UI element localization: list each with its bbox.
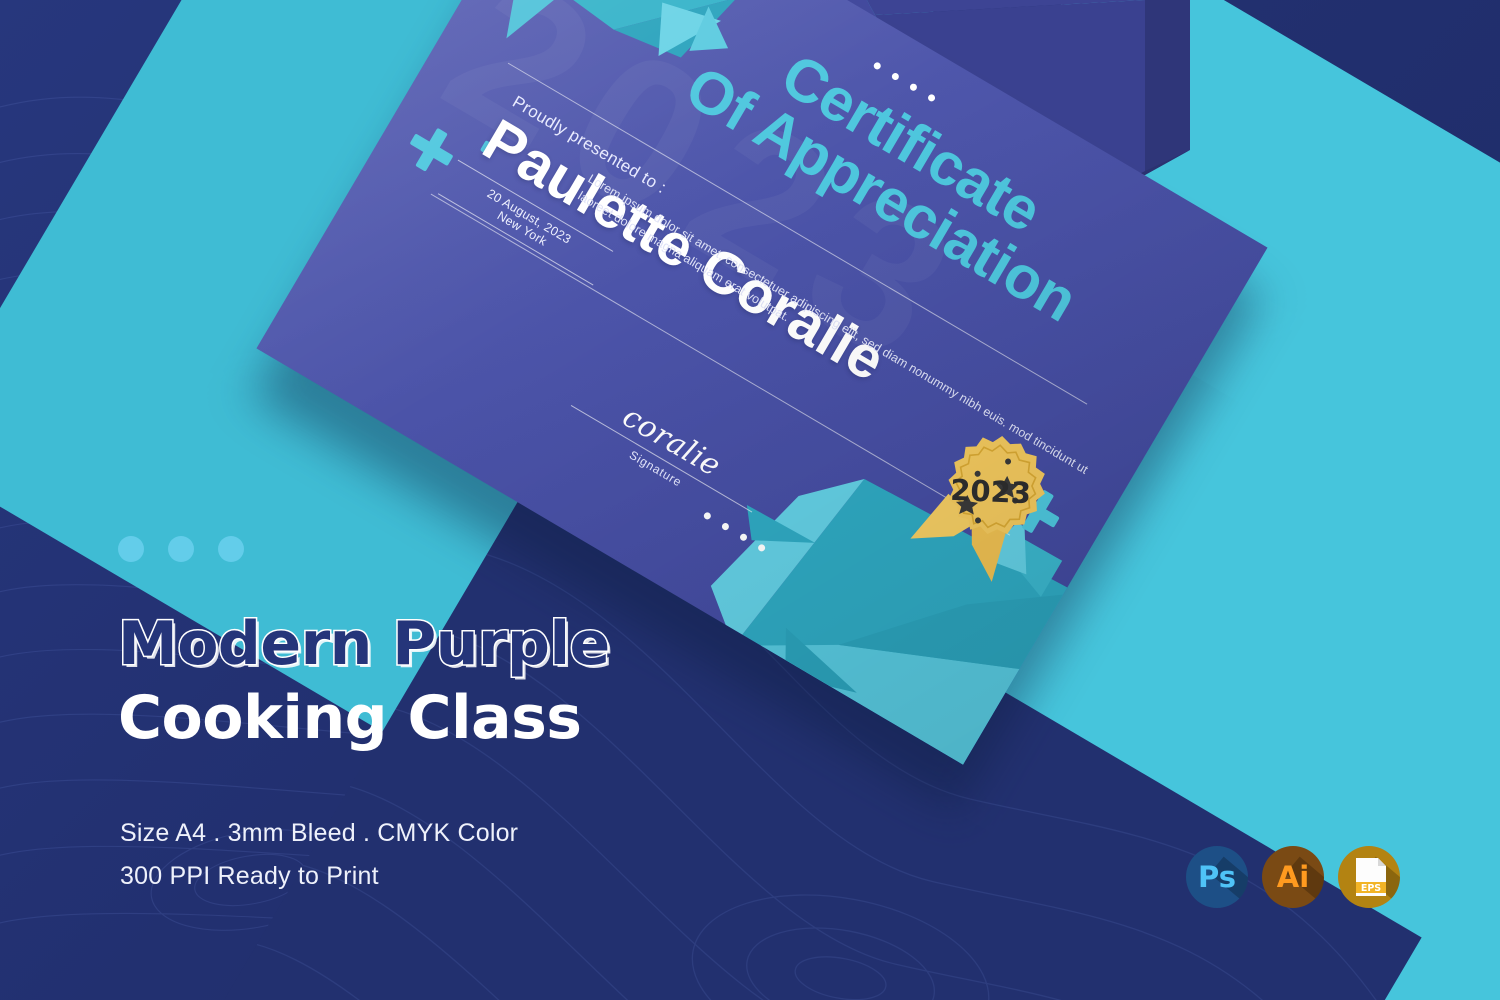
eps-icon-label: EPS	[1361, 883, 1381, 894]
spec-line-2: 300 PPI Ready to Print	[120, 855, 518, 898]
illustrator-icon-label: Ai	[1277, 863, 1309, 892]
illustrator-icon[interactable]: Ai	[1262, 846, 1324, 908]
badge-year-text: 2023	[950, 473, 1032, 510]
photoshop-icon[interactable]: Ps	[1186, 846, 1248, 908]
product-headline: Modern Purple Cooking Class	[118, 614, 610, 748]
product-title-line1: Modern Purple	[118, 614, 610, 674]
product-specs: Size A4 . 3mm Bleed . CMYK Color 300 PPI…	[120, 812, 518, 898]
eps-document-glyph: EPS	[1338, 846, 1400, 908]
decorative-dots-left	[118, 536, 244, 562]
signature-block: coralie Signature	[562, 373, 771, 528]
product-title-line2: Cooking Class	[118, 688, 610, 748]
mockup-stage: 2023	[0, 0, 1500, 1000]
file-format-icons: Ps Ai EPS	[1186, 846, 1400, 908]
eps-icon[interactable]: EPS	[1338, 846, 1400, 908]
photoshop-icon-label: Ps	[1198, 863, 1236, 892]
spec-line-1: Size A4 . 3mm Bleed . CMYK Color	[120, 812, 518, 855]
